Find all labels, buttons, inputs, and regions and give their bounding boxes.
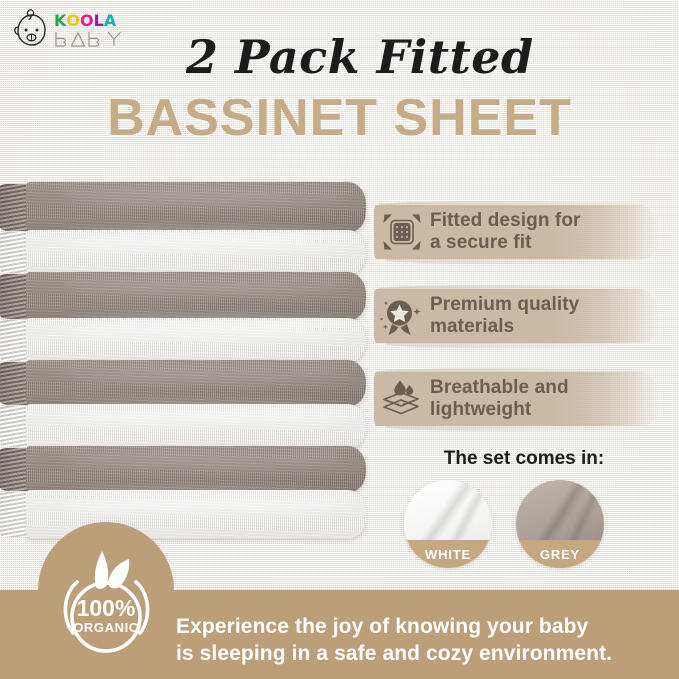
layered-fabric-icon	[374, 373, 430, 425]
stacked-sheet	[26, 318, 366, 362]
colors-heading: The set comes in:	[374, 448, 674, 470]
color-swatch-grey[interactable]: GREY	[516, 480, 604, 568]
baby-outline-text-icon	[54, 30, 128, 48]
stacked-sheet	[26, 230, 366, 274]
page-title: BASSINET SHEET	[0, 90, 679, 146]
feature-line-2: lightweight	[430, 399, 531, 420]
logo-baby	[54, 30, 128, 48]
feature-row-fitted-design: Fitted design for a secure fit	[374, 201, 676, 263]
feature-label: Fitted design for a secure fit	[430, 210, 581, 254]
fitted-sheet-icon	[374, 206, 430, 258]
sheet-stack-photo	[0, 178, 372, 538]
swatch-label: WHITE	[404, 540, 492, 568]
brand-logo: KOOLA	[12, 8, 137, 52]
tagline-line-2: is sleeping in a safe and cozy environme…	[176, 640, 668, 667]
swatch-label: GREY	[516, 540, 604, 568]
feature-label: Breathable and lightweight	[430, 377, 569, 421]
script-subtitle: 2 Pack Fitted	[186, 28, 506, 86]
stacked-sheet	[26, 360, 366, 406]
stacked-sheet	[26, 272, 366, 320]
feature-line-2: a secure fit	[430, 232, 532, 253]
product-infographic: KOOLA 2 Pack Fitted BASSINET SHEET	[0, 0, 679, 679]
logo-letter-o2: O	[80, 13, 94, 29]
organic-word: ORGANIC	[73, 620, 139, 635]
logo-letter-l: L	[94, 13, 104, 29]
stacked-sheet	[26, 404, 366, 448]
organic-badge: 100% ORGANIC	[46, 541, 166, 671]
organic-percent: 100%	[77, 595, 136, 621]
feature-line-1: Fitted design for	[430, 210, 581, 231]
logo-wordmark: KOOLA	[54, 12, 128, 48]
stacked-sheet	[26, 446, 366, 492]
award-badge-icon	[374, 290, 430, 342]
feature-row-premium-quality: Premium quality materials	[374, 285, 676, 347]
color-swatch-row: WHITE GREY	[404, 480, 654, 572]
baby-face-icon	[12, 9, 50, 51]
logo-letter-k: K	[54, 13, 66, 29]
feature-line-1: Premium quality	[430, 294, 579, 315]
logo-koola: KOOLA	[54, 12, 128, 29]
logo-letter-o1: O	[66, 13, 80, 29]
banner-tagline: Experience the joy of knowing your baby …	[176, 613, 668, 667]
stacked-sheet	[26, 182, 366, 232]
color-swatch-white[interactable]: WHITE	[404, 480, 492, 568]
logo-letter-a: A	[104, 13, 116, 29]
feature-line-2: materials	[430, 316, 514, 337]
tagline-line-1: Experience the joy of knowing your baby	[176, 615, 588, 638]
feature-row-breathable: Breathable and lightweight	[374, 368, 676, 430]
feature-label: Premium quality materials	[430, 294, 579, 338]
feature-line-1: Breathable and	[430, 377, 569, 398]
